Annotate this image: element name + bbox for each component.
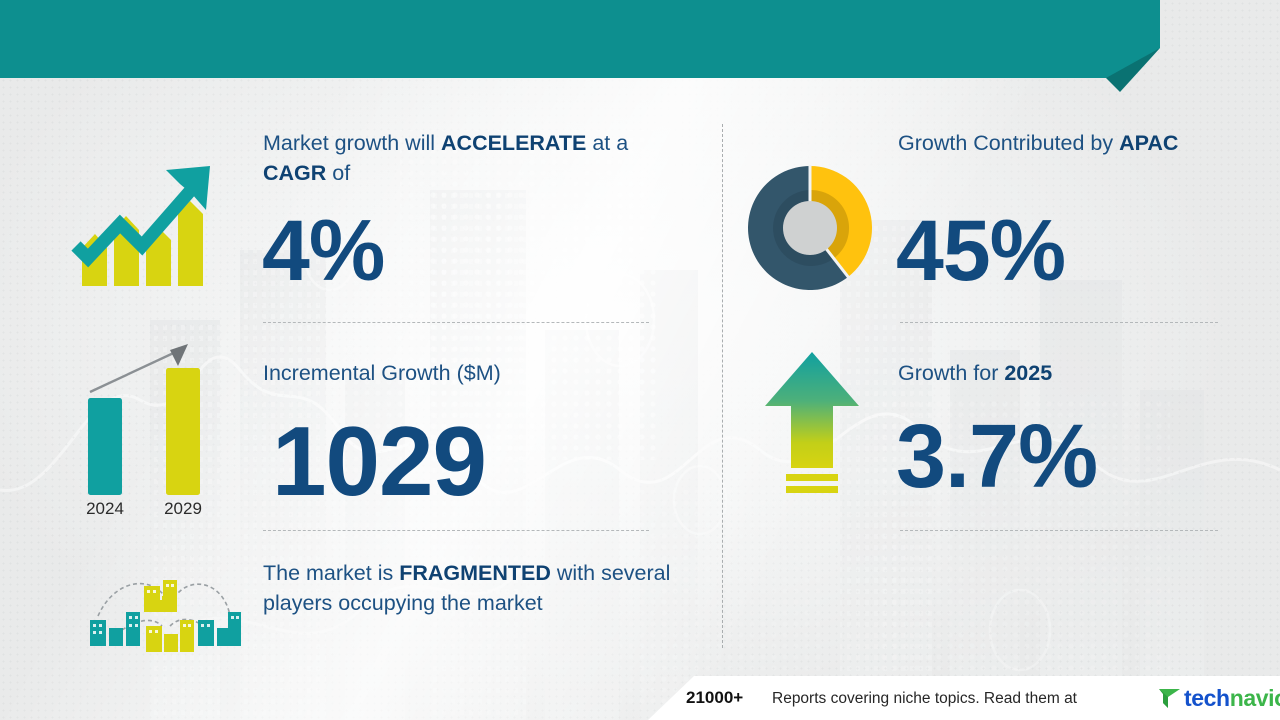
footer-report-count: 21000+ <box>686 688 743 708</box>
technavio-logo[interactable]: technavio™ <box>1158 686 1280 711</box>
apac-value: 45% <box>896 208 1065 294</box>
bar-label-2024: 2024 <box>86 499 124 518</box>
logo-text-navio: navio <box>1230 685 1280 711</box>
cagr-text-middle: at a <box>586 131 628 155</box>
apac-label-prefix: Growth Contributed by <box>898 131 1119 155</box>
header-banner <box>0 0 1160 78</box>
right-divider-2 <box>900 530 1218 531</box>
cagr-value: 4% <box>262 208 384 294</box>
growth-2025-label: Growth for 2025 <box>898 358 1052 388</box>
two-bar-comparison-chart-icon: 2024 2029 <box>62 330 242 520</box>
bar-label-2029: 2029 <box>164 499 202 518</box>
cagr-text-suffix: of <box>326 161 350 185</box>
incremental-growth-label: Incremental Growth ($M) <box>263 358 501 388</box>
up-arrow-gradient-icon <box>762 350 862 508</box>
technavio-mark-icon <box>1158 686 1182 711</box>
bar-2029 <box>166 368 200 495</box>
growth-2025-value: 3.7% <box>896 412 1097 502</box>
left-divider-1 <box>263 322 649 323</box>
fragmentation-text-prefix: The market is <box>263 561 399 585</box>
left-divider-2 <box>263 530 649 531</box>
growth-bar-chart-arrow-icon <box>70 148 230 298</box>
cagr-statement: Market growth will ACCELERATE at a CAGR … <box>263 128 663 188</box>
growth-2025-label-bold: 2025 <box>1004 361 1052 385</box>
growth-2025-label-prefix: Growth for <box>898 361 1004 385</box>
donut-chart-icon <box>742 160 878 296</box>
column-divider <box>722 124 723 648</box>
fragmentation-text-bold: FRAGMENTED <box>399 561 551 585</box>
cagr-text-cagr: CAGR <box>263 161 326 185</box>
city-buildings-network-icon <box>78 568 243 660</box>
infographic-page: GLOBAL DATA LOGGER MARKET 2025-2029 Mark… <box>0 0 1280 720</box>
apac-label: Growth Contributed by APAC <box>898 128 1198 158</box>
incremental-growth-value: 1029 <box>272 412 486 510</box>
apac-label-bold: APAC <box>1119 131 1178 155</box>
footer-caption: Reports covering niche topics. Read them… <box>772 690 1077 708</box>
cagr-text-prefix: Market growth will <box>263 131 441 155</box>
right-divider-1 <box>900 322 1218 323</box>
cagr-text-accelerate: ACCELERATE <box>441 131 586 155</box>
bar-2024 <box>88 398 122 495</box>
fragmentation-statement: The market is FRAGMENTED with several pl… <box>263 558 675 618</box>
logo-text-tech: tech <box>1184 685 1230 711</box>
